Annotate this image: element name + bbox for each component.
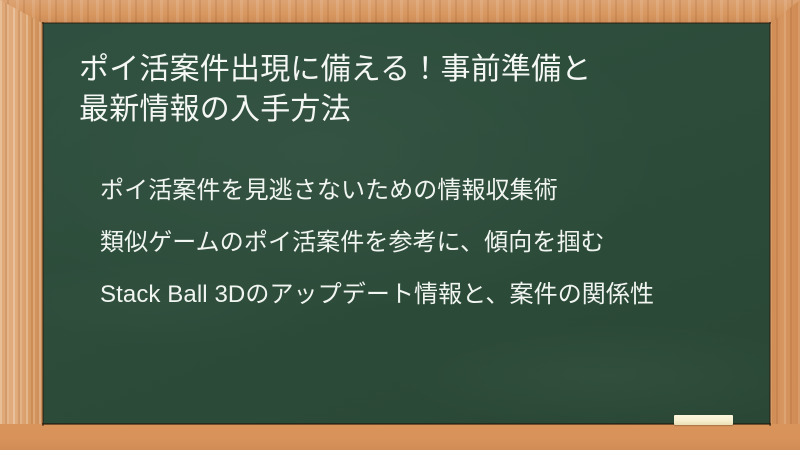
list-item: ポイ活案件を見逃さないための情報収集術 <box>100 172 740 210</box>
chalkboard-slate: ポイ活案件出現に備える！事前準備と 最新情報の入手方法 ポイ活案件を見逃さないた… <box>43 23 770 424</box>
frame-ledge-bottom <box>0 424 800 450</box>
blackboard-graphic: ポイ活案件出現に備える！事前準備と 最新情報の入手方法 ポイ活案件を見逃さないた… <box>0 0 800 450</box>
frame-seam-top <box>42 22 771 24</box>
chalk-stick <box>674 415 733 425</box>
frame-rail-left <box>0 0 44 450</box>
frame-rail-top <box>0 0 800 24</box>
page-title: ポイ活案件出現に備える！事前準備と 最新情報の入手方法 <box>79 50 739 130</box>
frame-seam-left <box>42 22 44 426</box>
list-item: 類似ゲームのポイ活案件を参考に、傾向を掴む <box>100 224 740 262</box>
list-item: Stack Ball 3Dのアップデート情報と、案件の関係性 <box>100 276 740 314</box>
frame-rail-right <box>770 0 800 450</box>
topic-list: ポイ活案件を見逃さないための情報収集術 類似ゲームのポイ活案件を参考に、傾向を掴… <box>100 172 740 314</box>
frame-seam-bottom <box>42 423 771 425</box>
frame-seam-right <box>769 22 771 426</box>
